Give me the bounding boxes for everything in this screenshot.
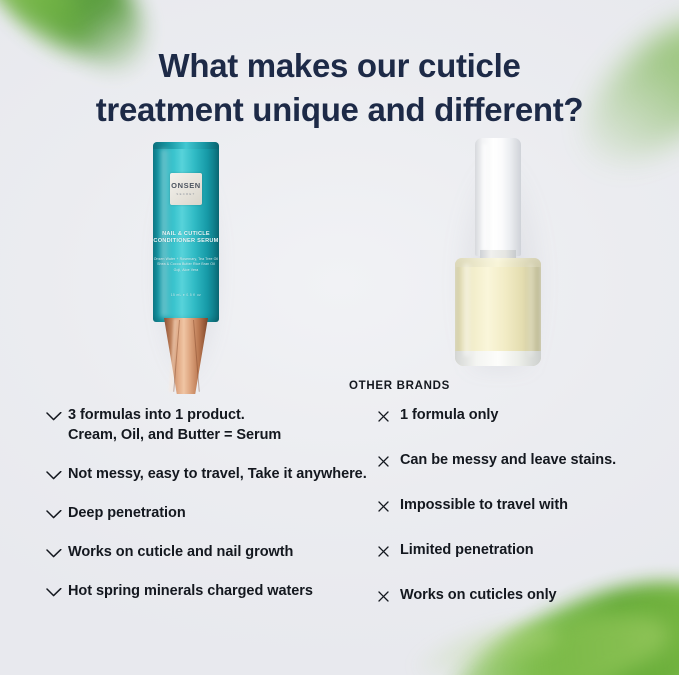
page-title-line-2: treatment unique and different? [0,88,679,132]
list-item: Deep penetration [46,503,376,523]
list-item: Hot spring minerals charged waters [46,581,376,601]
page-title: What makes our cuticle treatment unique … [0,44,679,131]
list-item: Can be messy and leave stains. [378,450,668,470]
list-item-label: Not messy, easy to travel, Take it anywh… [68,464,367,484]
tube-top-seal [153,142,219,149]
competitor-label: OTHER BRANDS [349,380,450,392]
list-item: Works on cuticle and nail growth [46,542,376,562]
tube-brand-name: ONSEN [171,182,201,190]
our-product-tube: ONSEN SECRET NAIL & CUTICLE CONDITIONER … [139,142,235,394]
comparison-lists: 3 formulas into 1 product. Cream, Oil, a… [0,405,679,653]
list-item-label: Works on cuticle and nail growth [68,542,293,562]
check-icon [46,510,68,519]
tube-volume-text: 15 mL e 0.5 fl oz [153,294,219,298]
bottle-cap-highlight [483,144,490,250]
competitor-label-row: OTHER BRANDS [0,380,679,392]
list-item: Limited penetration [378,540,668,560]
list-item: Impossible to travel with [378,495,668,515]
infographic-root: What makes our cuticle treatment unique … [0,0,679,675]
competitor-product-bottle [443,138,557,376]
list-item-label: 1 formula only [400,405,498,425]
x-icon [378,501,400,512]
list-item: Not messy, easy to travel, Take it anywh… [46,464,376,484]
bottle-highlight-right [527,264,533,356]
check-icon [46,588,68,597]
list-item-label: Can be messy and leave stains. [400,450,616,470]
list-item-label: Works on cuticles only [400,585,557,605]
bottle-highlight-left [464,264,473,356]
x-icon [378,546,400,557]
pros-column: 3 formulas into 1 product. Cream, Oil, a… [46,405,376,620]
list-item: Works on cuticles only [378,585,668,605]
list-item: 1 formula only [378,405,668,425]
page-title-line-1: What makes our cuticle [0,44,679,88]
list-item-label: 3 formulas into 1 product. Cream, Oil, a… [68,405,281,445]
tube-brand-subtitle: SECRET [176,192,195,196]
tube-ingredients-text: Onsen Water + Rosemary, Tea Tree Oil She… [153,257,219,273]
list-item-label: Hot spring minerals charged waters [68,581,313,601]
product-comparison-images: ONSEN SECRET NAIL & CUTICLE CONDITIONER … [0,128,679,403]
x-icon [378,411,400,422]
tube-brand-label: ONSEN SECRET [170,173,202,205]
list-item: 3 formulas into 1 product. Cream, Oil, a… [46,405,376,445]
check-icon [46,471,68,480]
check-icon [46,549,68,558]
list-item-label: Impossible to travel with [400,495,568,515]
list-item-label: Limited penetration [400,540,534,560]
x-icon [378,456,400,467]
tube-product-name: NAIL & CUTICLE CONDITIONER SERUM [153,231,219,245]
cons-column: 1 formula only Can be messy and leave st… [378,405,668,630]
check-icon [46,412,68,421]
x-icon [378,591,400,602]
bottle-cap [475,138,521,256]
list-item-label: Deep penetration [68,503,186,523]
